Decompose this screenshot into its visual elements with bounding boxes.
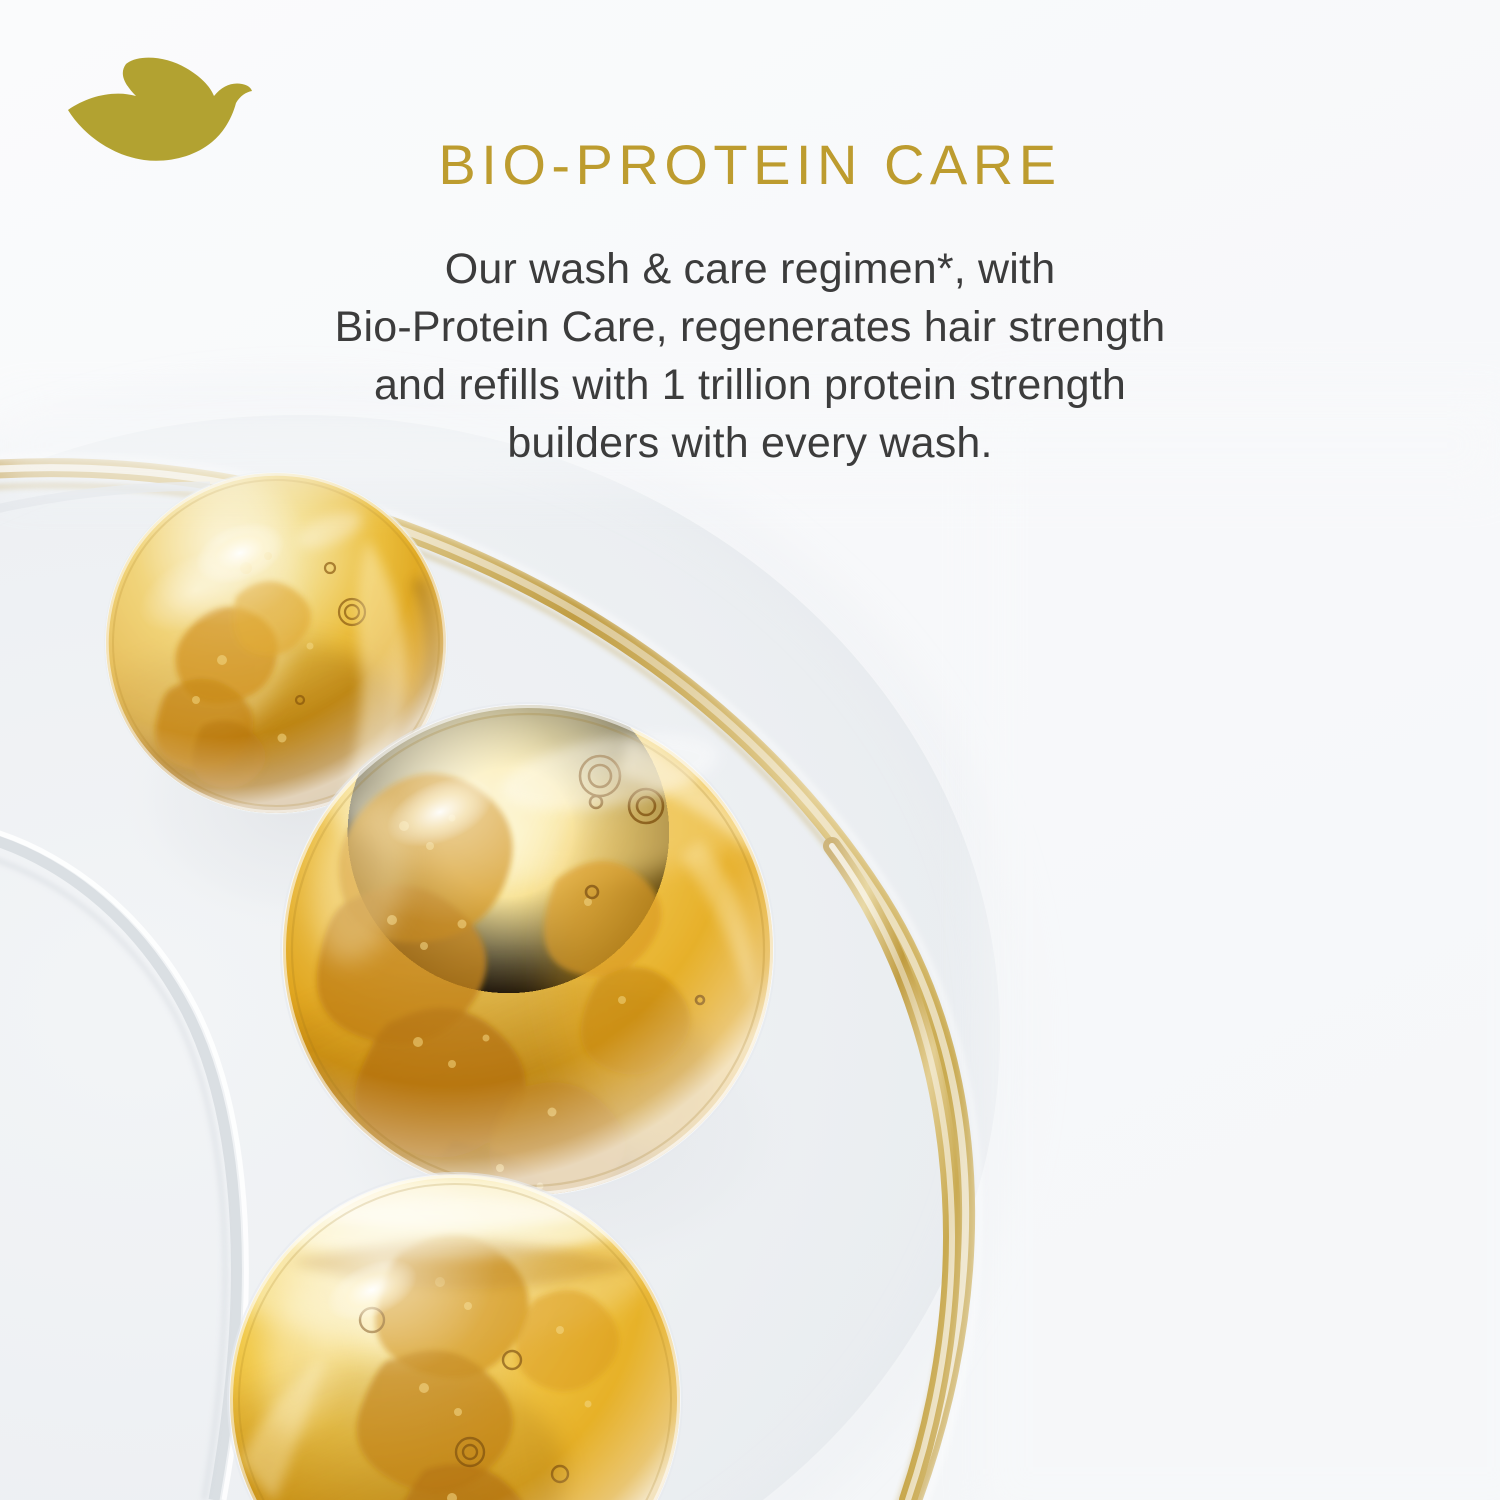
- description-line-4: builders with every wash.: [250, 414, 1250, 472]
- serum-droplets-artwork: [0, 0, 1500, 1500]
- description-line-2: Bio-Protein Care, regenerates hair stren…: [250, 298, 1250, 356]
- description-text: Our wash & care regimen*, with Bio-Prote…: [250, 240, 1250, 472]
- description-line-3: and refills with 1 trillion protein stre…: [250, 356, 1250, 414]
- description-line-1: Our wash & care regimen*, with: [250, 240, 1250, 298]
- product-banner: BIO-PROTEIN CARE Our wash & care regimen…: [0, 0, 1500, 1500]
- page-title: BIO-PROTEIN CARE: [0, 133, 1500, 197]
